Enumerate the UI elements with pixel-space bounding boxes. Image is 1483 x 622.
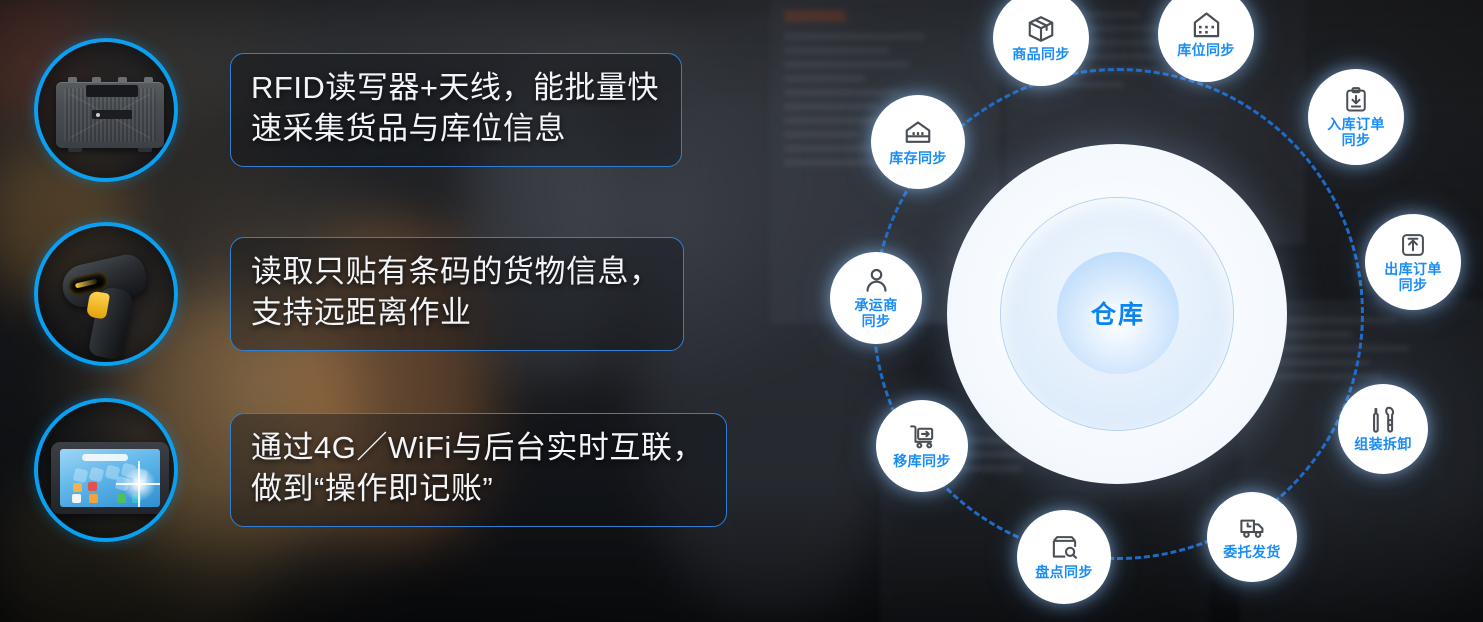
rfid-reader-device-icon xyxy=(34,38,178,182)
callout-line-1: 通过4G／WiFi与后台实时互联， xyxy=(251,430,704,465)
hub-node-label: 出库订单 同步 xyxy=(1384,262,1442,293)
hub-node-移库同步[interactable]: 移库同步 xyxy=(876,400,968,492)
hub-node-出库订单同步[interactable]: 出库订单 同步 xyxy=(1365,214,1461,310)
hub-node-库位同步[interactable]: 库位同步 xyxy=(1158,0,1254,82)
warehouse-core: 仓库 xyxy=(947,144,1287,484)
feature-row-tablet: 通过4G／WiFi与后台实时互联， 做到“操作即记账” xyxy=(34,398,727,542)
person-icon xyxy=(862,266,891,295)
feature-callout-rfid: RFID读写器+天线，能批量快 速采集货品与库位信息 xyxy=(230,53,682,167)
callout-line-1: RFID读写器+天线，能批量快 xyxy=(251,70,659,105)
slide-canvas: RFID读写器+天线，能批量快 速采集货品与库位信息 读取只贴有条码的货物信息，… xyxy=(0,0,1483,622)
cart-arrow-icon xyxy=(908,422,937,451)
feature-list: RFID读写器+天线，能批量快 速采集货品与库位信息 读取只贴有条码的货物信息，… xyxy=(0,0,800,622)
box-icon xyxy=(1026,14,1056,44)
callout-line-2: 做到“操作即记账” xyxy=(251,469,704,510)
feature-callout-barcode: 读取只贴有条码的货物信息， 支持远距离作业 xyxy=(230,237,684,351)
warehouse-sync-diagram: 仓库 商品同步 xyxy=(795,0,1483,622)
hub-node-入库订单同步[interactable]: 入库订单 同步 xyxy=(1308,69,1404,165)
rugged-tablet-device-icon xyxy=(34,398,178,542)
hub-node-label: 组装拆卸 xyxy=(1354,437,1412,453)
hub-node-委托发货[interactable]: 委托发货 xyxy=(1207,492,1297,582)
hub-node-label: 商品同步 xyxy=(1012,47,1070,63)
callout-line-2: 速采集货品与库位信息 xyxy=(251,109,659,150)
callout-line-2: 支持远距离作业 xyxy=(251,293,661,334)
callout-line-1: 读取只贴有条码的货物信息， xyxy=(251,254,661,289)
feature-callout-tablet: 通过4G／WiFi与后台实时互联， 做到“操作即记账” xyxy=(230,413,727,527)
hub-node-label: 盘点同步 xyxy=(1035,565,1093,581)
hub-node-承运商同步[interactable]: 承运商 同步 xyxy=(830,252,922,344)
box-search-icon xyxy=(1050,533,1079,562)
hub-node-库存同步[interactable]: 库存同步 xyxy=(871,95,965,189)
truck-clock-icon xyxy=(1238,513,1267,542)
hub-node-组装拆卸[interactable]: 组装拆卸 xyxy=(1338,384,1428,474)
feature-row-barcode: 读取只贴有条码的货物信息， 支持远距离作业 xyxy=(34,222,684,366)
wrench-screwdriver-icon xyxy=(1369,405,1398,434)
hub-node-label: 入库订单 同步 xyxy=(1327,117,1385,148)
hub-node-label: 委托发货 xyxy=(1223,545,1281,561)
warehouse-house-icon xyxy=(1191,9,1222,40)
feature-row-rfid: RFID读写器+天线，能批量快 速采集货品与库位信息 xyxy=(34,38,682,182)
warehouse-core-label: 仓库 xyxy=(1091,295,1145,331)
barcode-scanner-device-icon xyxy=(34,222,178,366)
box-upload-icon xyxy=(1399,231,1427,259)
hub-node-label: 库存同步 xyxy=(889,151,947,167)
hub-node-label: 库位同步 xyxy=(1177,43,1235,59)
hub-node-label: 承运商 同步 xyxy=(854,298,897,329)
hub-node-盘点同步[interactable]: 盘点同步 xyxy=(1017,510,1111,604)
clipboard-download-icon xyxy=(1342,86,1370,114)
hub-node-label: 移库同步 xyxy=(893,454,951,470)
warehouse-icon xyxy=(903,118,933,148)
